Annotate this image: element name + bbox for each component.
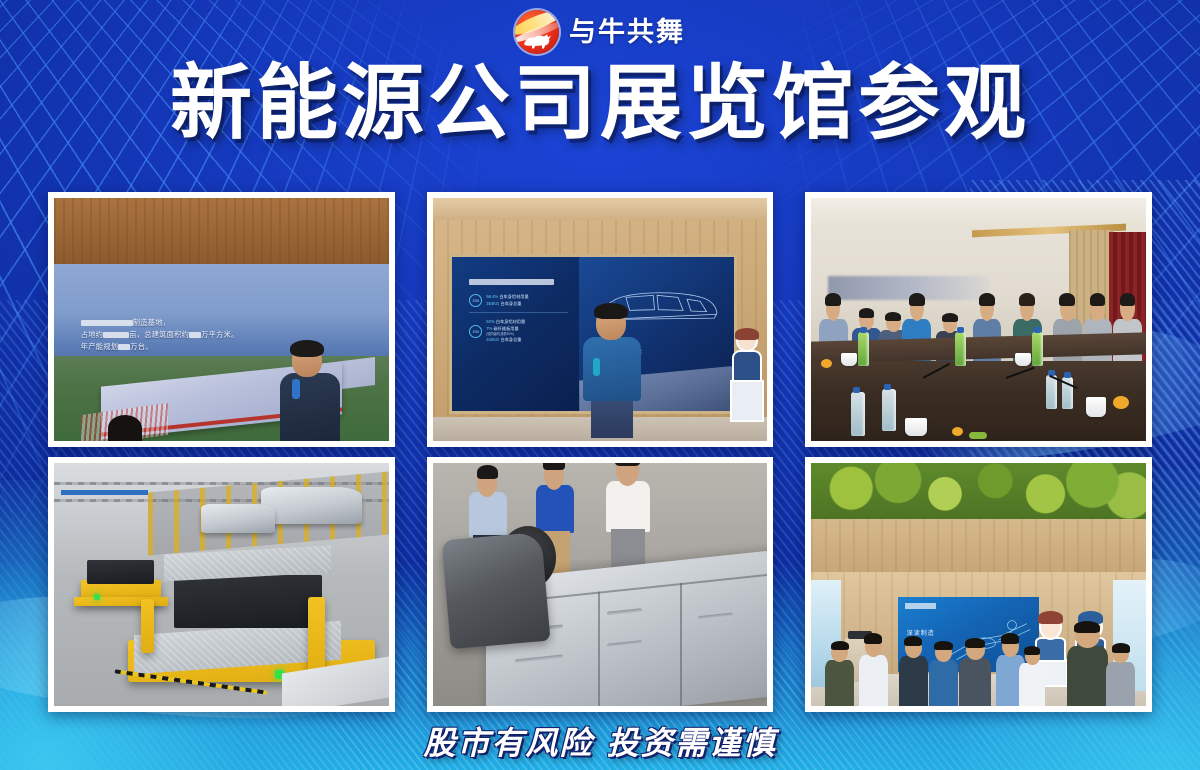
photo-card-battery-chassis: 参观者观看电池包底盘展示件 bbox=[427, 457, 774, 712]
visitor bbox=[959, 640, 992, 706]
photo-card-presentation-screen: E58 96.4% 白车身铝材用量 354KG 白车身总重 E56 bbox=[427, 192, 774, 447]
tea-cup bbox=[905, 418, 927, 436]
presenter-legs bbox=[591, 398, 633, 438]
bull-silhouette-icon bbox=[522, 29, 554, 49]
vehicle-on-conveyor bbox=[201, 504, 275, 533]
stat-lines-1: 96.4% 白车身铝材用量 354KG 白车身总重 bbox=[486, 294, 528, 307]
bull-logo-icon bbox=[515, 10, 559, 54]
photo-assembly-line: 整车总装车间AGV搬运平台与生产线 bbox=[54, 463, 389, 706]
blue-crane-beam bbox=[61, 490, 148, 495]
stat-3-label: 白车身铝材用量 bbox=[496, 319, 525, 324]
photo-card-meeting-room: 会议室座谈交流现场 bbox=[805, 192, 1152, 447]
mounting-slot bbox=[607, 608, 642, 616]
photo-card-assembly-line: 整车总装车间AGV搬运平台与生产线 bbox=[48, 457, 395, 712]
slide-line3-b: 万台。 bbox=[130, 342, 152, 351]
tea-cup bbox=[841, 353, 857, 366]
audience-head bbox=[108, 415, 142, 441]
stat-lines-2: 92% 白车身铝材用量 7% 碳纤维板用量 (较同级代减重50%) 342KG … bbox=[486, 319, 525, 343]
panel-seam bbox=[681, 583, 683, 706]
badge-e58: E58 bbox=[469, 294, 482, 307]
presenter-body bbox=[280, 373, 340, 441]
stat-3-value: 92% bbox=[486, 319, 494, 324]
cucumber bbox=[969, 432, 987, 439]
battery-module bbox=[174, 575, 321, 628]
visitor-staff bbox=[1019, 648, 1046, 706]
agv-payload bbox=[87, 560, 154, 584]
presenter-figure bbox=[278, 343, 342, 441]
brand-header: 与牛共舞 bbox=[0, 8, 1200, 56]
mascot-cutout-figure bbox=[730, 330, 764, 422]
stat-4-label: 碳纤维板用量 bbox=[494, 326, 519, 331]
poster-canvas: 与牛共舞 新能源公司展览馆参观 制造基地， 占地约亩，总建筑面积约万平方米。 年… bbox=[0, 0, 1200, 770]
photo-meeting-room: 会议室座谈交流现场 bbox=[811, 198, 1146, 441]
slide-divider bbox=[469, 312, 568, 313]
visitor bbox=[898, 638, 928, 706]
visitor bbox=[825, 643, 855, 706]
visitor bbox=[858, 636, 888, 706]
beverage-bottle bbox=[858, 332, 869, 366]
visitor-photographer bbox=[603, 463, 653, 580]
panel-seam bbox=[598, 592, 600, 706]
orange-fruit bbox=[952, 427, 963, 436]
status-light-green bbox=[94, 594, 100, 600]
stat-group-2: E56 92% 白车身铝材用量 7% 碳纤维板用量 (较同级代减重50%) 34… bbox=[469, 319, 568, 343]
orange-fruit bbox=[1113, 396, 1129, 409]
tea-cup-lidded bbox=[1086, 397, 1106, 417]
beverage-bottle bbox=[1032, 332, 1043, 366]
water-bottle bbox=[1046, 375, 1057, 409]
brand-name: 与牛共舞 bbox=[569, 19, 685, 46]
tea-cup bbox=[1015, 353, 1031, 366]
slide-line3-a: 年产能规划 bbox=[81, 342, 118, 351]
agv-post bbox=[141, 599, 154, 652]
upper-wood-wall bbox=[811, 519, 1146, 572]
microphone-icon bbox=[292, 379, 300, 399]
photo-battery-chassis: 参观者观看电池包底盘展示件 bbox=[433, 463, 768, 706]
stat-1-value: 96.4% bbox=[486, 294, 498, 299]
photo-exhibition-lobby: 深读制造 bbox=[811, 463, 1146, 706]
stat-4-note: (较同级代减重50%) bbox=[486, 332, 514, 336]
moss-green-wall bbox=[811, 463, 1146, 519]
mounting-slot bbox=[607, 640, 642, 648]
microphone-icon bbox=[593, 358, 600, 376]
photo-card-exhibition-lobby: 深读制造 bbox=[805, 457, 1152, 712]
presenter-hair bbox=[290, 340, 324, 357]
mounting-slot bbox=[698, 613, 733, 621]
cutout-hair bbox=[735, 328, 759, 340]
photo-grid: 制造基地， 占地约亩，总建筑面积约万平方米。 年产能规划万台。 新能源制造基地航… bbox=[48, 192, 1152, 712]
slide-line2-b: 亩，总建筑面积约 bbox=[129, 330, 189, 339]
cutout-body bbox=[732, 350, 762, 382]
presenter-figure bbox=[577, 306, 647, 436]
stat-2-label: 白车身总重 bbox=[501, 301, 522, 306]
visitor-foreground bbox=[1066, 623, 1110, 706]
stat-group-1: E58 96.4% 白车身铝材用量 354KG 白车身总重 bbox=[469, 294, 568, 307]
photo-factory-slide: 制造基地， 占地约亩，总建筑面积约万平方米。 年产能规划万台。 新能源制造基地航… bbox=[54, 198, 389, 441]
presenter-body bbox=[583, 337, 641, 401]
cutout-podium bbox=[730, 380, 764, 422]
stat-5-label: 白车身总重 bbox=[501, 337, 522, 342]
visitor bbox=[1106, 645, 1136, 706]
presenter-hair bbox=[594, 303, 628, 319]
beverage-bottle bbox=[955, 332, 966, 366]
photo-card-factory-slide: 制造基地， 占地约亩，总建筑面积约万平方米。 年产能规划万台。 新能源制造基地航… bbox=[48, 192, 395, 447]
slide-line2-c: 万平方米。 bbox=[201, 330, 238, 339]
badge-e56: E56 bbox=[469, 325, 482, 338]
stat-4-value: 7% bbox=[486, 326, 492, 331]
water-bottle bbox=[851, 392, 865, 436]
slide-left-panel: E58 96.4% 白车身铝材用量 354KG 白车身总重 E56 bbox=[452, 257, 579, 411]
slide-line1-suffix: 制造基地， bbox=[133, 318, 170, 327]
vehicle-on-conveyor bbox=[261, 487, 361, 523]
drive-motor-assembly bbox=[441, 532, 551, 650]
page-title: 新能源公司展览馆参观 bbox=[0, 58, 1200, 150]
visitor bbox=[928, 643, 958, 706]
photo-presentation-screen: E58 96.4% 白车身铝材用量 354KG 白车身总重 E56 bbox=[433, 198, 768, 441]
screen-logo-redacted bbox=[905, 603, 936, 610]
mounting-slot bbox=[516, 654, 563, 663]
wood-wall bbox=[54, 198, 389, 264]
stat-5-value: 342KG bbox=[486, 337, 499, 342]
disclaimer-text: 股市有风险 投资需谨慎 bbox=[423, 718, 776, 764]
slide-line2-a: 占地约 bbox=[81, 330, 103, 339]
slide-title-redacted bbox=[469, 279, 554, 285]
water-bottle bbox=[882, 389, 896, 431]
ceiling bbox=[433, 198, 768, 220]
stat-2-value: 354KG bbox=[486, 301, 499, 306]
stat-1-label: 白车身铝材用量 bbox=[499, 294, 528, 299]
footer-disclaimer-bar: 股市有风险 投资需谨慎 bbox=[0, 718, 1200, 764]
